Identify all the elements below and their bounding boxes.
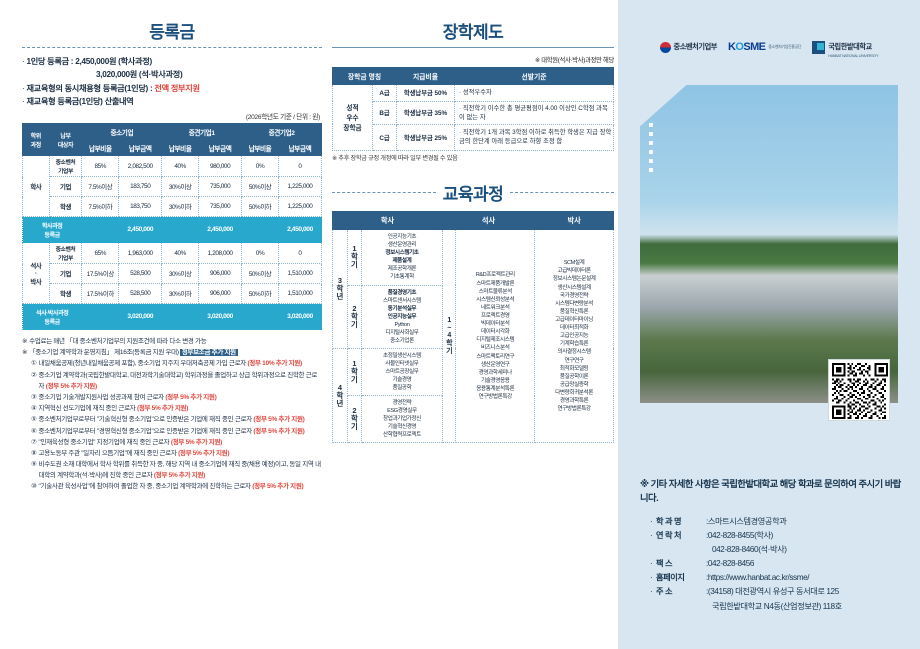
course: 정보시스템기초	[363, 249, 441, 257]
curriculum-title: 교육과정	[443, 180, 504, 205]
fn10-mark: ⑨	[31, 459, 37, 481]
course: 사물인터넷실무	[363, 360, 441, 368]
course: 품질경영기초	[363, 289, 441, 297]
scholarship-divider	[332, 47, 614, 48]
course: 기술경영	[363, 376, 441, 384]
sch-rate-1: 학생납부금 35%	[397, 101, 455, 124]
footnote-7: ⑥ 중소벤처기업부로부터 "경영혁신형 중소기업"으로 인증받은 기업에 재직 …	[22, 426, 322, 437]
course: 생산시스템설계	[536, 284, 612, 292]
subtotal2-blank-1	[162, 304, 199, 330]
fn8-text: "인재육성형 중소기업" 지정기업에 재직 중인 근로자	[39, 439, 170, 446]
cur-year-4: 4학년	[333, 348, 348, 442]
subtotal2-v1: 3,020,000	[199, 304, 242, 330]
cell-0-0: 85%	[82, 156, 119, 177]
th-amt-0: 납부금액	[119, 140, 162, 156]
tuition-subtotal-grad: 석사·박사과정등록금 3,020,000 3,020,000 3,020,000	[23, 304, 322, 330]
middle-column: 장학제도 ※ 대학원(석사·박사)과정만 해당 장학금 명칭 지급비율 선발기준…	[332, 18, 614, 443]
course: Python	[363, 321, 441, 329]
cell-5-0: 17.5%이하	[82, 284, 119, 304]
cell-2-3: 735,000	[199, 197, 242, 217]
cell-5-3: 906,000	[199, 284, 242, 304]
footnote-0: ※ 수업료는 매년 「대 중소벤처기업부의 지원조건에 따라 다소 변경 가능	[22, 336, 322, 347]
table-row: 학생 7.5%이하 183,750 30%이하 735,000 50%이하 1,…	[23, 197, 322, 217]
cur-courses-3-2: 품질경영기초 스마트센서시스템 동기분석실무 인공지능실무 Python 디지털…	[362, 285, 443, 348]
logo-row: 중소벤처기업부 KOSME 중소벤처기업진흥공단 국립한밭대학교 HANBAT …	[618, 0, 920, 58]
logo-ministry: 중소벤처기업부	[660, 42, 718, 53]
course: 디지털제조시스템	[457, 336, 533, 344]
course: 인공지능기초	[363, 233, 441, 241]
course: 공급망실증학	[536, 381, 612, 389]
fn8-mark: ⑦	[31, 437, 37, 448]
table-row: 3학년 1학기 인공지능기초 생산운영관리 정보시스템기초 제품설계 제조공학개…	[333, 230, 614, 285]
course: 데이터최적화	[536, 324, 612, 332]
sch-rate-2: 학생납부금 25%	[397, 124, 455, 150]
cell-5-2: 30%이하	[162, 284, 199, 304]
th-rate-1: 납부비율	[162, 140, 199, 156]
sch-row-label: 성적우수장학금	[333, 84, 373, 150]
course: 초정밀생산시스템	[363, 352, 441, 360]
th-level: 학위과정	[23, 124, 50, 156]
cur-sem-4-2: 2학기	[347, 396, 362, 443]
scholarship-header-row: 장학금 명칭 지급비율 선발기준	[333, 67, 614, 84]
sch-criteria-2: · 직전학기 1개 과목 3학점 이하로 취득한 학생은 지급 장학금의 한단계…	[455, 124, 614, 150]
right-panel: 중소벤처기업부 KOSME 중소벤처기업진흥공단 국립한밭대학교 HANBAT …	[618, 0, 920, 649]
row-payer-0: 중소벤처기업부	[49, 156, 82, 177]
table-row: 학사 중소벤처기업부 85% 2,082,500 40% 980,000 0% …	[23, 156, 322, 177]
course: 연구방법론특강	[536, 405, 612, 413]
curriculum-header-row: 학사 석사 박사	[333, 212, 614, 230]
course: 데이터시각화	[457, 328, 533, 336]
course: 빅데이터분석	[457, 320, 533, 328]
contact-value-phone[interactable]: 042-828-8455(학사)	[708, 529, 773, 543]
course: 고급빅데이터론	[536, 267, 612, 275]
sch-grade-0: A급	[373, 84, 397, 101]
fn11-support: (정부 5% 추가 지원)	[252, 483, 303, 490]
th-payer: 납부대상자	[49, 124, 82, 156]
cell-0-4: 0%	[242, 156, 279, 177]
cell-4-4: 50%이상	[242, 264, 279, 284]
cell-3-3: 1,208,000	[199, 243, 242, 264]
fn2-mark: ①	[31, 358, 37, 369]
row-payer-5: 학생	[49, 284, 82, 304]
logo-ministry-label: 중소벤처기업부	[674, 42, 718, 52]
subtotal1-v0: 2,450,000	[119, 217, 162, 243]
course: 동기분석실무	[363, 305, 441, 313]
footnote-8: ⑦ "인재육성형 중소기업" 지정기업에 재직 중인 근로자 (정부 5% 추가…	[22, 437, 322, 448]
fn8-support: (정부 5% 추가 지원)	[171, 439, 222, 446]
course: 디지털사회실무	[363, 329, 441, 337]
brochure-page: 등록금 · 1인당 등록금 : 2,450,000원 (학사과정) 3,020,…	[0, 0, 920, 649]
cur-master-courses: R&D프로젝트관리 스마트제품개발론 스마트물류분석 시스템신뢰성분석 네트워크…	[456, 230, 535, 443]
course: 품질혁신특론	[536, 308, 612, 316]
tuition-group-header-row: 학위과정 납부대상자 중소기업 중견기업1 중견기업2	[23, 124, 322, 140]
footnote-1: ※ 「중소기업 계약학과 운영지침」 제16조(등록금 지원 우대)정부보조금 …	[22, 347, 322, 358]
tuition-unit-note: (2026학년도 기준 / 단위 : 원)	[22, 111, 320, 121]
th-group-mid2: 중견기업2	[242, 124, 322, 140]
course: 시스템신뢰성분석	[457, 296, 533, 304]
subtotal2-label: 석사·박사과정등록금	[23, 304, 82, 330]
contact-value-website[interactable]: https://www.hanbat.ac.kr/ssme/	[708, 571, 809, 585]
contact-value-phone2[interactable]: 042-828-8460(석·박사)	[712, 543, 787, 557]
contact-row-fax: · 팩 스 : 042-828-8456	[650, 557, 908, 571]
course: SCM설계	[536, 259, 612, 267]
fn10-support: (정부 5% 추가 지원)	[154, 472, 205, 479]
course: 품질공학	[363, 384, 441, 392]
course: 생산운영관리	[363, 241, 441, 249]
contact-row-department: · 학 과 명 : 스마트시스템경영공학과	[650, 515, 908, 529]
scholarship-title: 장학제도	[332, 18, 614, 47]
tuition-divider	[22, 47, 322, 48]
footnote-11: ⑩ "기술사관 육성사업"에 참여하여 졸업한 자 중, 중소기업 계약학과에 …	[22, 481, 322, 492]
cur-year-3: 3학년	[333, 230, 348, 349]
cell-4-0: 17.5%이상	[82, 264, 119, 284]
sch-th-criteria: 선발기준	[455, 67, 614, 84]
cur-courses-4-2: 경영전략 ESG경영실무 창업과기업가정신 기술혁신경영 산학협력프로젝트	[362, 396, 443, 443]
fn9-text: 고용노동부 주관 "일자리 으뜸기업"에 재직 중인 근로자	[39, 450, 177, 457]
course: 프로젝트경영	[457, 312, 533, 320]
course: 경영과학세미나	[457, 369, 533, 377]
tuition-bullet-1: · 재교육형의 동시채용형 등록금(1인당) : 전액 정부지원	[22, 82, 322, 95]
subtotal2-blank-2	[242, 304, 279, 330]
curriculum-table: 학사 석사 박사 3학년 1학기 인공지능기초 생산운영관리	[332, 211, 614, 443]
scholarship-note-bottom: ※ 추후 장학금 규정 개정에 따라 일부 변경될 수 있음	[332, 153, 614, 162]
logo-hbnu-label: 국립한밭대학교	[828, 42, 872, 51]
table-row: 기업 17.5%이상 528,500 30%이상 906,000 50%이상 1…	[23, 264, 322, 284]
contact-row-phone: · 연 락 처 : 042-828-8455(학사)	[650, 529, 908, 543]
contact-row-address2: 국립한밭대학교 N4동(산업정보관) 118호	[650, 600, 908, 614]
curriculum-title-wrap: 교육과정	[332, 180, 614, 205]
contact-label-website: 홈페이지	[656, 571, 706, 585]
fn9-support: (정부 5% 추가 지원)	[178, 450, 229, 457]
fn4-text: 중소기업 기술개발지원사업 성공과제 참여 근로자	[39, 394, 164, 401]
cur-th-master: 석사	[442, 212, 534, 230]
logo-kosme-sub: 중소벤처기업진흥공단	[768, 45, 801, 50]
cell-3-0: 65%	[82, 243, 119, 264]
course: 기초통계학	[363, 273, 441, 281]
fn6-text: 중소벤처기업부로부터 "기술혁신형 중소기업"으로 인증받은 기업에 재직 중인…	[39, 416, 252, 423]
scholarship-section: 장학제도 ※ 대학원(석사·박사)과정만 해당 장학금 명칭 지급비율 선발기준…	[332, 18, 614, 162]
qr-code-icon	[832, 363, 888, 419]
subtotal1-label: 학사과정등록금	[23, 217, 82, 243]
cur-courses-3-1: 인공지능기초 생산운영관리 정보시스템기초 제품설계 제조공학개론 기초통계학	[362, 230, 443, 285]
tuition-b2-label: 재교육형 등록금(1인당) 산출내역	[26, 95, 133, 108]
course: 고급인공지능	[536, 332, 612, 340]
course: 제품설계	[363, 257, 441, 265]
subtotal1-v2: 2,450,000	[278, 217, 321, 243]
sch-grade-1: B급	[373, 101, 397, 124]
course: 중소기업론	[363, 337, 441, 345]
row-level-grad: 석사·박사	[23, 243, 50, 304]
cell-2-2: 30%이하	[162, 197, 199, 217]
table-row: 학생 17.5%이하 528,500 30%이하 906,000 50%이하 1…	[23, 284, 322, 304]
tuition-table: 학위과정 납부대상자 중소기업 중견기업1 중견기업2 납부비율 납부금액 납부…	[22, 123, 322, 330]
fn5-mark: ④	[31, 403, 37, 414]
subtotal1-blank-2	[242, 217, 279, 243]
cell-1-0: 7.5%이상	[82, 177, 119, 197]
logo-kosme: KOSME 중소벤처기업진흥공단	[728, 41, 801, 53]
cur-sem-3-1: 1학기	[347, 230, 362, 285]
cur-courses-4-1: 초정밀생산시스템 사물인터넷실무 스마트공장실무 기술경영 품질공학	[362, 348, 443, 395]
course: R&D프로젝트관리	[457, 271, 533, 279]
course: 창업과기업가정신	[363, 415, 441, 423]
cell-2-0: 7.5%이하	[82, 197, 119, 217]
table-row: B급 학생납부금 35% · 직전학기 이수한 총 평균평점이 4.00 이상인…	[333, 101, 614, 124]
contact-label-department: 학 과 명	[656, 515, 706, 529]
course: 인공지능실무	[363, 313, 441, 321]
footnote-10: ⑨ 비수도권 소재 대학에서 학사 학위를 취득한 자 중, 해당 지역 내 중…	[22, 459, 322, 481]
contact-row-website: · 홈페이지 : https://www.hanbat.ac.kr/ssme/	[650, 571, 908, 585]
contact-value-fax: 042-828-8456	[708, 557, 754, 571]
cell-4-1: 528,500	[119, 264, 162, 284]
contact-list: · 학 과 명 : 스마트시스템경영공학과 · 연 락 처 : 042-828-…	[640, 515, 908, 614]
table-row: 석사·박사 중소벤처기업부 65% 1,963,000 40% 1,208,00…	[23, 243, 322, 264]
cell-1-2: 30%이상	[162, 177, 199, 197]
tuition-title: 등록금	[22, 18, 322, 47]
logo-hbnu-sub: HANBAT NATIONAL UNIVERSITY	[828, 54, 878, 58]
course: 네트워크분석	[457, 304, 533, 312]
contact-row-phone2: 042-828-8460(석·박사)	[650, 543, 908, 557]
tuition-subtotal-bachelor: 학사과정등록금 2,450,000 2,450,000 2,450,000	[23, 217, 322, 243]
sch-criteria-0: · 성적우수자	[455, 84, 614, 101]
footnote-4: ③ 중소기업 기술개발지원사업 성공과제 참여 근로자 (정부 5% 추가 지원…	[22, 392, 322, 403]
course: 고급데이터마이닝	[536, 316, 612, 324]
fn5-support: (정부 5% 추가 지원)	[137, 405, 188, 412]
cur-th-phd: 박사	[535, 212, 614, 230]
fn11-text: "기술사관 육성사업"에 참여하여 졸업한 자 중, 중소기업 계약학과에 진학…	[39, 483, 251, 490]
subtotal2-blank-0	[82, 304, 119, 330]
row-payer-2: 학생	[49, 197, 82, 217]
tuition-b0-v1: 3,020,000원 (석·박사과정)	[96, 70, 182, 79]
sch-th-name: 장학금 명칭	[333, 67, 397, 84]
cell-0-5: 0	[278, 156, 321, 177]
course: 기술경영응용	[457, 377, 533, 385]
fn0-mark: ※	[22, 336, 27, 347]
cell-5-5: 1,510,000	[278, 284, 321, 304]
footnote-9: ⑧ 고용노동부 주관 "일자리 으뜸기업"에 재직 중인 근로자 (정부 5% …	[22, 448, 322, 459]
cell-3-4: 0%	[242, 243, 279, 264]
tuition-bullet-2: · 재교육형 등록금(1인당) 산출내역	[22, 95, 322, 108]
fn0-text: 수업료는 매년 「대 중소벤처기업부의 지원조건에 따라 다소 변경 가능	[29, 336, 206, 347]
campus-photo	[640, 85, 898, 403]
course: 기계학습특론	[536, 340, 612, 348]
footnote-2: ① 내일채움공제(청년내일채움공제 포함), 중소기업 지주지 우대저축공제 가…	[22, 358, 322, 369]
course: 생산운영연구	[457, 361, 533, 369]
sch-criteria-1: · 직전학기 이수한 총 평균평점이 4.00 이상인 C학점 과목이 없는 자	[455, 101, 614, 124]
logo-hbnu: 국립한밭대학교 HANBAT NATIONAL UNIVERSITY	[812, 36, 878, 58]
fn7-text: 중소벤처기업부로부터 "경영혁신형 중소기업"으로 인증받은 기업에 재직 중인…	[39, 428, 252, 435]
cell-4-2: 30%이상	[162, 264, 199, 284]
fn6-support: (정부 5% 추가 지원)	[253, 416, 304, 423]
curriculum-section: 교육과정 학사 석사 박사	[332, 180, 614, 443]
fn6-mark: ⑤	[31, 414, 37, 425]
th-group-mid1: 중견기업1	[162, 124, 242, 140]
contact-block: ※ 기타 자세한 사항은 국립한밭대학교 해당 학과로 문의하여 주시기 바랍니…	[640, 478, 908, 614]
course: 산학협력프로젝트	[363, 431, 441, 439]
cell-3-5: 0	[278, 243, 321, 264]
tuition-b0-label: 1인당 등록금 :	[26, 57, 73, 66]
cell-0-1: 2,082,500	[119, 156, 162, 177]
cell-3-1: 1,963,000	[119, 243, 162, 264]
fn9-mark: ⑧	[31, 448, 37, 459]
course: 스마트공장실무	[363, 368, 441, 376]
course: 경영전략	[363, 399, 441, 407]
cell-1-1: 183,750	[119, 177, 162, 197]
tuition-b0-v0: 2,450,000원 (학사과정)	[75, 57, 152, 66]
cell-2-4: 50%이하	[242, 197, 279, 217]
fn1-prefix: 「중소기업 계약학과 운영지침」 제16조(등록금 지원 우대)	[29, 349, 179, 356]
scholarship-table: 장학금 명칭 지급비율 선발기준 성적우수장학금 A급 학생납부금 50% · …	[332, 67, 614, 151]
row-payer-4: 기업	[49, 264, 82, 284]
table-row: C급 학생납부금 25% · 직전학기 1개 과목 3학점 이하로 취득한 학생…	[333, 124, 614, 150]
course: 스마트센서시스템	[363, 297, 441, 305]
scholarship-note-top: ※ 대학원(석사·박사)과정만 해당	[332, 55, 614, 64]
footnote-6: ⑤ 중소벤처기업부로부터 "기술혁신형 중소기업"으로 인증받은 기업에 재직 …	[22, 414, 322, 425]
course: 품질공학이론	[536, 373, 612, 381]
course: 연구방법론특강	[457, 393, 533, 401]
cur-th-bachelor: 학사	[333, 212, 443, 230]
th-amt-2: 납부금액	[278, 140, 321, 156]
cell-3-2: 40%	[162, 243, 199, 264]
fn11-mark: ⑩	[31, 481, 37, 492]
fn4-support: (정부 5% 추가 지원)	[165, 394, 216, 401]
cur-master-term: 1~4학기	[442, 230, 455, 443]
course: 응용통계분석특론	[457, 385, 533, 393]
contact-value-department: 스마트시스템경영공학과	[708, 515, 786, 529]
table-row: 기업 7.5%이상 183,750 30%이상 735,000 50%이상 1,…	[23, 177, 322, 197]
row-payer-3: 중소벤처기업부	[49, 243, 82, 264]
cell-0-3: 980,000	[199, 156, 242, 177]
subtotal2-v0: 3,020,000	[119, 304, 162, 330]
course: 제조공학개론	[363, 265, 441, 273]
footnote-5: ④ 지역혁신 선도기업에 재직 중인 근로자 (정부 5% 추가 지원)	[22, 403, 322, 414]
cell-1-3: 735,000	[199, 177, 242, 197]
course: 스마트제품개발론	[457, 280, 533, 288]
th-rate-2: 납부비율	[242, 140, 279, 156]
subtotal1-blank-1	[162, 217, 199, 243]
course: 경영과학특론	[536, 397, 612, 405]
course: ESG경영실무	[363, 407, 441, 415]
cell-4-5: 1,510,000	[278, 264, 321, 284]
course: 최적화모델링	[536, 365, 612, 373]
subtotal1-v1: 2,450,000	[199, 217, 242, 243]
fn2-text: 내일채움공제(청년내일채움공제 포함), 중소기업 지주지 우대저축공제 가입 …	[39, 360, 246, 367]
fn7-support: (정부 5% 추가 지원)	[253, 428, 304, 435]
taegeuk-icon	[660, 42, 671, 53]
contact-label-fax: 팩 스	[656, 557, 706, 571]
photo-dot-decoration	[649, 123, 653, 177]
course: 국가경영전략	[536, 292, 612, 300]
th-amt-1: 납부금액	[199, 140, 242, 156]
fn1-mark: ※	[22, 347, 27, 358]
tuition-b1-highlight: 전액 정부지원	[154, 84, 199, 93]
subtotal1-blank-0	[82, 217, 119, 243]
fn2-support: (정부 10% 추가 지원)	[247, 360, 301, 367]
contact-value-address: (34158) 대전광역시 유성구 동서대로 125	[708, 585, 839, 599]
contact-row-address: · 주 소 : (34158) 대전광역시 유성구 동서대로 125	[650, 585, 908, 599]
course: 스마트팩토리연구	[457, 353, 533, 361]
cell-2-5: 1,225,000	[278, 197, 321, 217]
course: 스마트물류분석	[457, 288, 533, 296]
fn5-text: 지역혁신 선도기업에 재직 중인 근로자	[39, 405, 136, 412]
cell-0-2: 40%	[162, 156, 199, 177]
curriculum-dash-right	[510, 192, 614, 193]
fn4-mark: ③	[31, 392, 37, 403]
cell-1-4: 50%이상	[242, 177, 279, 197]
course: 시스템다변량분석	[536, 300, 612, 308]
tuition-section: 등록금 · 1인당 등록금 : 2,450,000원 (학사과정) 3,020,…	[22, 18, 322, 493]
cell-2-1: 183,750	[119, 197, 162, 217]
th-rate-0: 납부비율	[82, 140, 119, 156]
fn7-mark: ⑥	[31, 426, 37, 437]
subtotal2-v2: 3,020,000	[278, 304, 321, 330]
course: 의사결정시스템	[536, 348, 612, 356]
sch-grade-2: C급	[373, 124, 397, 150]
fn3-support: (정부 5% 추가 지원)	[46, 383, 97, 390]
contact-value-address2: 국립한밭대학교 N4동(산업정보관) 118호	[712, 600, 842, 614]
table-row: 성적우수장학금 A급 학생납부금 50% · 성적우수자	[333, 84, 614, 101]
footnote-3: ② 중소기업 계약학과(국립한밭대학교, 대전과학기술대학교) 학위과정을 졸업…	[22, 370, 322, 392]
tuition-bullets: · 1인당 등록금 : 2,450,000원 (학사과정) 3,020,000원…	[22, 55, 322, 108]
cell-1-5: 1,225,000	[278, 177, 321, 197]
sch-rate-0: 학생납부금 50%	[397, 84, 455, 101]
tuition-b0-v1-wrap: 3,020,000원 (석·박사과정)	[22, 68, 322, 81]
fn3-mark: ②	[31, 370, 37, 392]
qr-code[interactable]	[828, 359, 890, 421]
row-level-bachelor: 학사	[23, 156, 50, 217]
cell-5-1: 528,500	[119, 284, 162, 304]
sch-th-rate: 지급비율	[397, 67, 455, 84]
cur-sem-3-2: 2학기	[347, 285, 362, 348]
row-payer-1: 기업	[49, 177, 82, 197]
cur-phd-courses: SCM설계 고급빅데이터론 정보시스템논문설계 생산시스템설계 국가경영전략 시…	[535, 230, 614, 443]
course: 연구연구	[536, 357, 612, 365]
course: 비즈니스분석	[457, 344, 533, 352]
course: 기술혁신경영	[363, 423, 441, 431]
course: 다변량회귀분석론	[536, 389, 612, 397]
hanbat-mark-icon	[812, 41, 825, 54]
contact-notice: ※ 기타 자세한 사항은 국립한밭대학교 해당 학과로 문의하여 주시기 바랍니…	[640, 478, 908, 506]
tuition-b1-label: 재교육형의 동시채용형 등록금(1인당) :	[26, 84, 152, 93]
kosme-wordmark-icon: KOSME	[728, 41, 765, 53]
campus-photo-wrap	[640, 85, 898, 403]
th-group-sme: 중소기업	[82, 124, 162, 140]
cur-sem-4-1: 1학기	[347, 348, 362, 395]
cell-5-4: 50%이하	[242, 284, 279, 304]
course: 정보시스템논문설계	[536, 275, 612, 283]
fn1-badge: 정부보조금 추가 지원	[180, 349, 238, 356]
contact-label-address: 주 소	[656, 585, 706, 599]
tuition-bullet-0: · 1인당 등록금 : 2,450,000원 (학사과정)	[22, 55, 322, 68]
curriculum-dash-left	[332, 192, 436, 193]
contact-label-phone: 연 락 처	[656, 529, 706, 543]
tuition-footnotes: ※ 수업료는 매년 「대 중소벤처기업부의 지원조건에 따라 다소 변경 가능 …	[22, 336, 322, 492]
cell-4-3: 906,000	[199, 264, 242, 284]
